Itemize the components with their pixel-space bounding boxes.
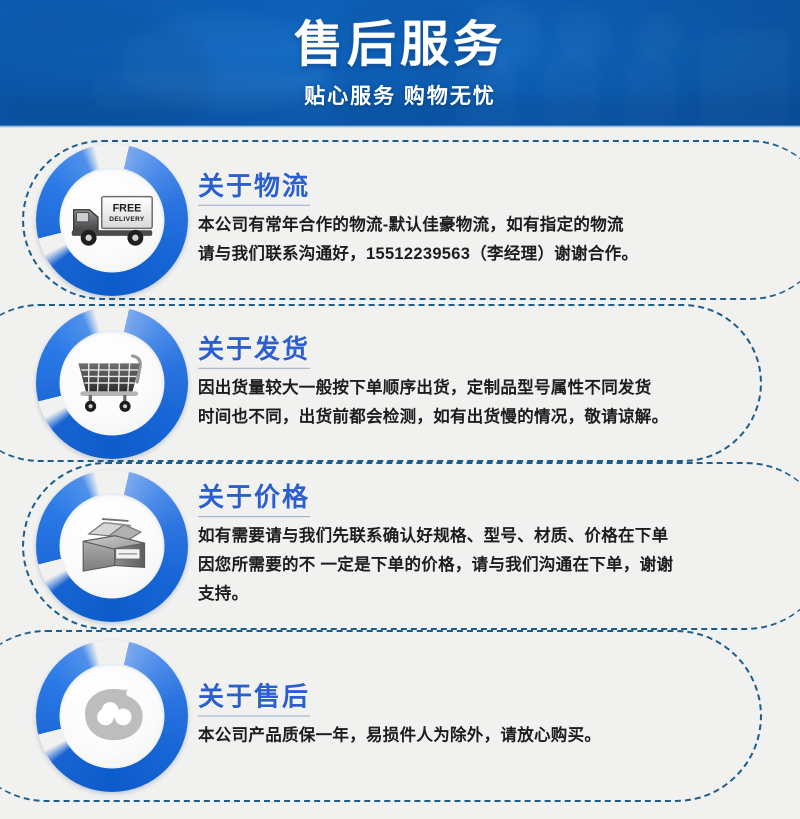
section-badge: FREE DELIVERY <box>36 144 188 296</box>
package-box-icon <box>69 509 155 583</box>
section-about-price: 关于价格 如有需要请与我们先联系确认好规格、型号、材质、价格在下单 因您所需要的… <box>0 462 800 630</box>
banner-title: 售后服务 <box>294 20 506 72</box>
section-body: 本公司有常年合作的物流-默认佳豪物流，如有指定的物流 请与我们联系沟通好，155… <box>198 211 698 270</box>
banner-subtitle: 贴心服务 购物无忧 <box>304 80 496 110</box>
section-body-line: 请与我们联系沟通好，15512239563（李经理）谢谢合作。 <box>198 240 698 269</box>
shopping-cart-icon <box>69 346 155 420</box>
section-title: 关于售后 <box>198 681 310 716</box>
section-body-line: 时间也不同，出货前都会检测，如有出货慢的情况，敬请谅解。 <box>198 403 698 432</box>
section-title: 关于发货 <box>198 334 310 369</box>
section-title: 关于价格 <box>198 482 310 517</box>
section-badge <box>36 307 188 459</box>
svg-text:DELIVERY: DELIVERY <box>109 216 145 223</box>
section-body-line: 因您所需要的不 一定是下单的价格，请与我们沟通在下单，谢谢 <box>198 551 698 580</box>
section-body-line: 本公司有常年合作的物流-默认佳豪物流，如有指定的物流 <box>198 211 698 240</box>
section-title: 关于物流 <box>198 171 310 206</box>
delivery-truck-icon: FREE DELIVERY <box>69 183 155 257</box>
section-body: 本公司产品质保一年，易损件人为除外，请放心购买。 <box>198 721 698 750</box>
after-sales-service-page: 售后服务 贴心服务 购物无忧 <box>0 0 800 819</box>
sections-container: FREE DELIVERY 关于物流 本公司 <box>0 128 800 819</box>
section-about-shipping: 关于发货 因出货量较大一般按下单顺序出货，定制品型号属性不同发货 时间也不同，出… <box>0 304 800 462</box>
section-badge <box>36 640 188 792</box>
section-text: 关于价格 如有需要请与我们先联系确认好规格、型号、材质、价格在下单 因您所需要的… <box>198 482 698 610</box>
page-banner: 售后服务 贴心服务 购物无忧 <box>0 0 800 128</box>
section-body: 如有需要请与我们先联系确认好规格、型号、材质、价格在下单 因您所需要的不 一定是… <box>198 522 698 610</box>
section-body-line: 如有需要请与我们先联系确认好规格、型号、材质、价格在下单 <box>198 522 698 551</box>
section-body: 因出货量较大一般按下单顺序出货，定制品型号属性不同发货 时间也不同，出货前都会检… <box>198 374 698 433</box>
section-body-line: 因出货量较大一般按下单顺序出货，定制品型号属性不同发货 <box>198 374 698 403</box>
section-body-line: 支持。 <box>198 581 698 610</box>
section-body-line: 本公司产品质保一年，易损件人为除外，请放心购买。 <box>198 721 698 750</box>
section-badge <box>36 470 188 622</box>
section-text: 关于发货 因出货量较大一般按下单顺序出货，定制品型号属性不同发货 时间也不同，出… <box>198 334 698 432</box>
section-about-logistics: FREE DELIVERY 关于物流 本公司 <box>0 140 800 300</box>
section-text: 关于售后 本公司产品质保一年，易损件人为除外，请放心购买。 <box>198 681 698 750</box>
banner-bottom-edge <box>0 125 800 128</box>
svg-text:FREE: FREE <box>113 203 142 215</box>
section-text: 关于物流 本公司有常年合作的物流-默认佳豪物流，如有指定的物流 请与我们联系沟通… <box>198 171 698 269</box>
quote-bubble-icon <box>69 679 155 753</box>
section-about-aftersales: 关于售后 本公司产品质保一年，易损件人为除外，请放心购买。 <box>0 630 800 802</box>
